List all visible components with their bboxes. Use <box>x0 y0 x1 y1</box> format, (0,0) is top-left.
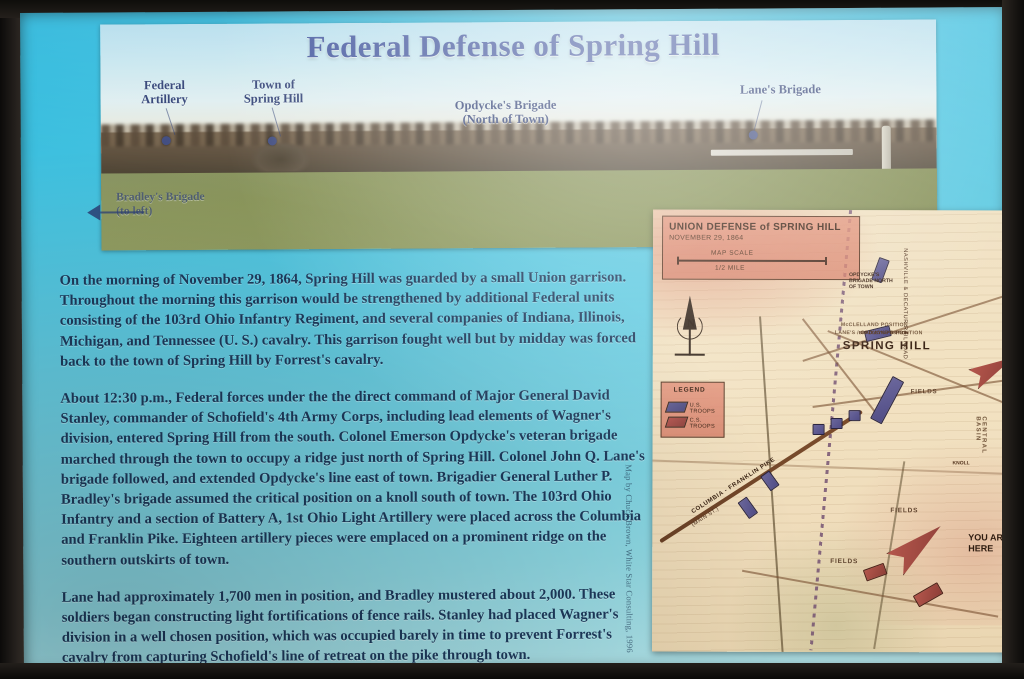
historical-marker-screenshot: Federal Defense of Spring Hill Federal A… <box>0 0 1024 679</box>
marker-frame-bottom-edge <box>0 663 1024 679</box>
left-arrow-icon <box>87 205 100 221</box>
photo-distant-farm-building <box>711 149 853 156</box>
interpretive-sign-panel: Federal Defense of Spring Hill Federal A… <box>20 7 1010 673</box>
legend-swatch-cs-icon <box>665 417 689 428</box>
body-paragraph-1: On the morning of November 29, 1864, Spr… <box>60 267 653 372</box>
photo-label-town-of-spring-hill: Town of Spring Hill <box>232 77 314 106</box>
photo-label-town-line2: Spring Hill <box>232 91 314 106</box>
map-railroad-label: NASHVILLE & DECATUR RAILROAD <box>902 248 908 359</box>
map-legend-row-cs: C.S. TROOPS <box>667 416 721 428</box>
left-arrow-tail <box>100 211 144 213</box>
compass-rose-icon: N <box>667 296 715 360</box>
map-unit-blue-3 <box>849 410 861 421</box>
compass-stem <box>689 326 691 356</box>
photo-label-federal-line1: Federal <box>128 78 200 92</box>
page-title: Federal Defense of Spring Hill <box>20 25 1006 67</box>
photo-label-federal-line2: Artillery <box>128 92 200 106</box>
map-note-opdycke-box: OPDYCKE'S BRIGADE NORTH OF TOWN <box>849 272 901 290</box>
map-note-knoll: KNOLL <box>952 460 969 466</box>
map-legend-row-us: U.S. TROOPS <box>667 401 721 413</box>
map-scale-label: MAP SCALE <box>711 250 754 257</box>
map-title: UNION DEFENSE of SPRING HILL <box>669 222 841 233</box>
photo-label-opdyckes-brigade: Opdycke's Brigade (North of Town) <box>426 98 586 127</box>
map-legend-us-label: U.S. TROOPS <box>690 403 721 415</box>
marker-frame-right-edge <box>1002 0 1024 679</box>
legend-swatch-us-icon <box>665 402 689 413</box>
compass-crossbar <box>675 354 705 356</box>
position-dot-lanes-brigade <box>749 131 758 140</box>
photo-large-tree <box>251 141 311 171</box>
union-defense-map: UNION DEFENSE of SPRING HILL NOVEMBER 29… <box>652 210 1021 653</box>
map-unit-blue-4 <box>831 418 843 429</box>
map-town-label: SPRING HILL <box>843 340 931 352</box>
photo-label-bradleys-brigade: Bradley's Brigade (to left) <box>116 190 236 219</box>
map-credit-vertical: Map by Chuck Brown, White Star Consultin… <box>624 464 635 653</box>
position-dot-federal-artillery <box>162 136 171 145</box>
map-note-mcclelland: McCLELLAND POSITION <box>841 322 908 328</box>
map-legend-cs-label: C.S. TROOPS <box>690 418 721 430</box>
photo-label-bradley-line1: Bradley's Brigade <box>116 190 236 205</box>
map-railroad-label-secondary: CENTRAL BASIN <box>975 416 987 454</box>
body-paragraph-3: Lane had approximately 1,700 men in posi… <box>62 584 654 668</box>
marker-body-text: On the morning of November 29, 1864, Spr… <box>60 267 655 679</box>
map-date: NOVEMBER 29, 1864 <box>669 235 743 242</box>
map-title-block: UNION DEFENSE of SPRING HILL NOVEMBER 29… <box>662 216 860 281</box>
photo-label-town-line1: Town of <box>232 77 314 92</box>
map-scale-bar <box>677 260 827 262</box>
compass-north-label: N <box>687 318 695 330</box>
map-legend: LEGEND U.S. TROOPS C.S. TROOPS <box>661 382 725 438</box>
photo-label-opdycke-line1: Opdycke's Brigade <box>426 98 586 113</box>
body-paragraph-2: About 12:30 p.m., Federal forces under t… <box>60 385 653 570</box>
photo-label-lanes-brigade: Lane's Brigade <box>720 82 840 97</box>
map-scale-value: 1/2 MILE <box>715 265 745 272</box>
map-field-label-3: FIELDS <box>911 388 938 395</box>
map-unit-blue-5 <box>813 424 825 435</box>
photo-label-lane-line1: Lane's Brigade <box>720 82 840 97</box>
map-legend-title: LEGEND <box>674 387 706 394</box>
position-dot-town <box>268 136 277 145</box>
map-field-label-1: FIELDS <box>890 507 918 514</box>
photo-silo <box>882 126 891 172</box>
map-field-label-2: FIELDS <box>830 558 858 565</box>
photo-label-opdycke-line2: (North of Town) <box>426 112 586 127</box>
photo-label-federal-artillery: Federal Artillery <box>128 78 200 106</box>
